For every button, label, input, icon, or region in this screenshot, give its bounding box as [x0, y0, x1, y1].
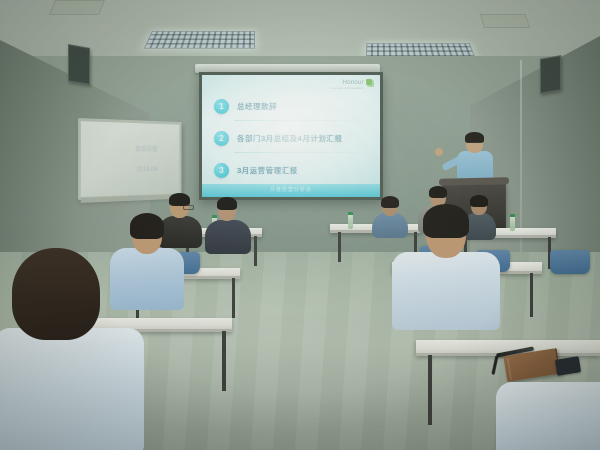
- bullet-text: 各部门3月总结及4月计划汇报: [237, 133, 342, 144]
- attendee-front-right-man: [496, 376, 600, 450]
- bullet-underline: [234, 120, 370, 121]
- slide-footer-text: 月度经营分析会: [202, 184, 380, 197]
- ceiling-vent-left: [49, 0, 105, 15]
- meeting-room-photo: 会议议程 2016.04 Honour a sense of innovatio…: [0, 0, 600, 450]
- slide-bullet-item: 2 各部门3月总结及4月计划汇报: [214, 131, 370, 146]
- bullet-text: 总经理致辞: [237, 101, 277, 112]
- desk-leg: [232, 278, 235, 318]
- attendee-torso: [0, 328, 144, 450]
- attendee-hair: [217, 197, 237, 210]
- projected-slide: Honour a sense of innovation 1 总经理致辞 2 各…: [202, 75, 380, 197]
- photo-caption: corporate training room presentation: [0, 440, 600, 450]
- presenter-hand: [435, 148, 443, 156]
- attendee-hair: [130, 213, 164, 239]
- ceiling-light-left: [144, 31, 255, 49]
- speaker-icon-left: [68, 44, 90, 85]
- attendee-torso: [392, 252, 500, 330]
- desk-leg: [254, 236, 257, 266]
- attendee-hair: [12, 248, 100, 340]
- water-bottle: [348, 212, 353, 229]
- ceiling-vent-right: [480, 14, 531, 28]
- slide-bullet-item: 1 总经理致辞: [214, 99, 370, 114]
- slide-bullet-list: 1 总经理致辞 2 各部门3月总结及4月计划汇报 3 3月运营管理汇报: [214, 99, 370, 195]
- chair-back: [550, 250, 590, 274]
- slide-logo-subtext: a sense of innovation: [330, 86, 363, 90]
- attendee-front-left-woman: [0, 240, 140, 450]
- attendee-white-shirt-center: [392, 206, 500, 330]
- bullet-text: 3月运营管理汇报: [237, 165, 298, 176]
- attendee-dark-suit: [205, 198, 251, 254]
- projection-screen-frame: Honour a sense of innovation 1 总经理致辞 2 各…: [199, 72, 383, 200]
- desk-leg: [428, 355, 432, 425]
- attendee-hair: [423, 204, 469, 238]
- slide-logo: Honour a sense of innovation: [343, 79, 374, 87]
- chair: [550, 250, 590, 274]
- speaker-icon-right: [540, 55, 561, 94]
- whiteboard: 会议议程 2016.04: [78, 118, 182, 200]
- attendee-hair: [429, 186, 447, 198]
- bullet-number-badge: 3: [214, 163, 229, 178]
- glasses-icon: [466, 142, 482, 147]
- podium-top: [439, 177, 509, 185]
- whiteboard-mark-2: 2016.04: [137, 166, 157, 173]
- slide-logo-mark-icon: [366, 79, 374, 87]
- attendee-torso: [205, 220, 251, 254]
- bullet-number-badge: 1: [214, 99, 229, 114]
- whiteboard-mark-1: 会议议程: [135, 144, 158, 154]
- desk-leg: [222, 331, 226, 391]
- slide-footer-bar: 月度经营分析会: [202, 184, 380, 197]
- glasses-icon: [183, 205, 194, 210]
- slide-bullet-item: 3 3月运营管理汇报: [214, 163, 370, 178]
- bullet-number-badge: 2: [214, 131, 229, 146]
- desk-leg: [338, 232, 341, 262]
- bullet-underline: [234, 152, 370, 153]
- desk-leg: [530, 273, 533, 317]
- water-bottle: [510, 214, 515, 231]
